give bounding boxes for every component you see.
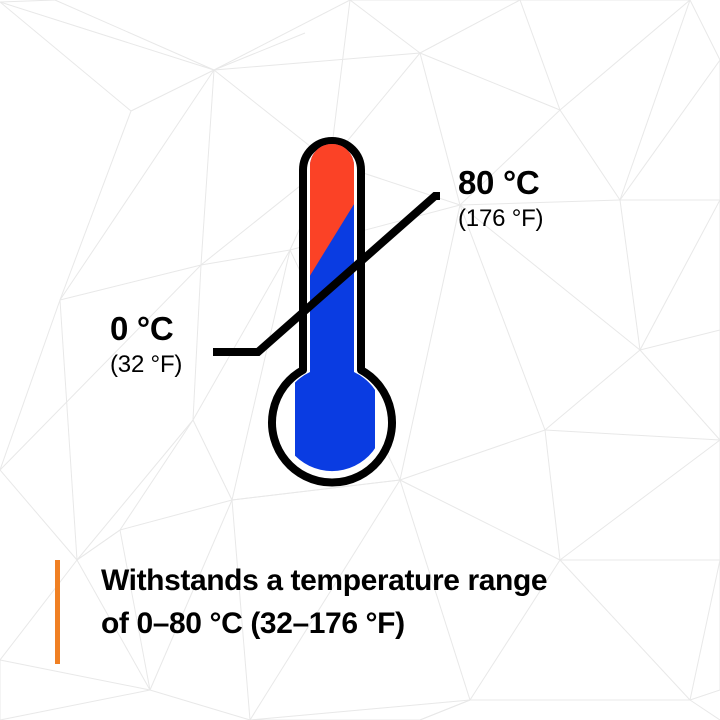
accent-bar [55,560,60,664]
label-cold: 0 °C (32 °F) [110,312,182,377]
label-cold-celsius: 0 °C [110,312,182,345]
caption: Withstands a temperature range of 0–80 °… [101,560,691,645]
label-hot-fahrenheit: (176 °F) [458,207,543,231]
label-hot-celsius: 80 °C [458,166,543,199]
caption-line-1: Withstands a temperature range [101,560,691,603]
infographic-page: 80 °C (176 °F) 0 °C (32 °F) Withstands a… [0,0,720,720]
label-cold-fahrenheit: (32 °F) [110,353,182,377]
caption-line-2: of 0–80 °C (32–176 °F) [101,603,691,646]
label-hot: 80 °C (176 °F) [458,166,543,231]
